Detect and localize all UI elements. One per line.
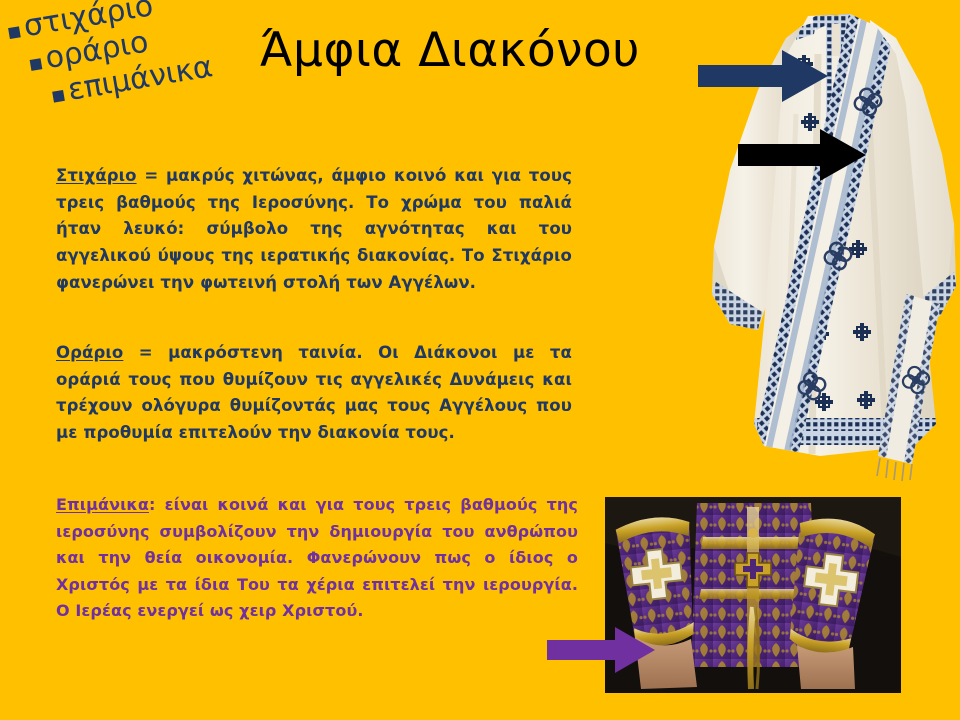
- black-arrow-icon: [738, 128, 866, 182]
- paragraph-lead-orarion: Οράριο: [56, 343, 123, 362]
- paragraph-lead-sticharion: Στιχάριο: [56, 166, 137, 185]
- paragraph-body-orarion: = μακρόστενη ταινία. Οι Διάκονοι με τα ο…: [56, 343, 572, 442]
- square-bullet-icon: [8, 26, 21, 39]
- paragraph-epimanikia: Επιμάνικα: είναι κοινά και για τους τρει…: [56, 492, 578, 625]
- paragraph-orarion: Οράριο = μακρόστενη ταινία. Οι Διάκονοι …: [56, 340, 572, 447]
- slide-canvas: στιχάριο οράριο επιμάνικα Άμφια Διακόνου…: [0, 0, 960, 720]
- paragraph-lead-epimanikia: Επιμάνικα: [56, 495, 149, 514]
- page-title: Άμφια Διακόνου: [210, 26, 690, 75]
- vestments-bullet-list: στιχάριο οράριο επιμάνικα: [2, 0, 276, 120]
- navy-arrow-icon: [698, 48, 828, 104]
- square-bullet-icon: [30, 58, 43, 71]
- paragraph-sticharion: Στιχάριο = μακρύς χιτώνας, άμφιο κοινό κ…: [56, 163, 572, 297]
- purple-arrow-icon: [547, 626, 655, 674]
- square-bullet-icon: [52, 89, 65, 102]
